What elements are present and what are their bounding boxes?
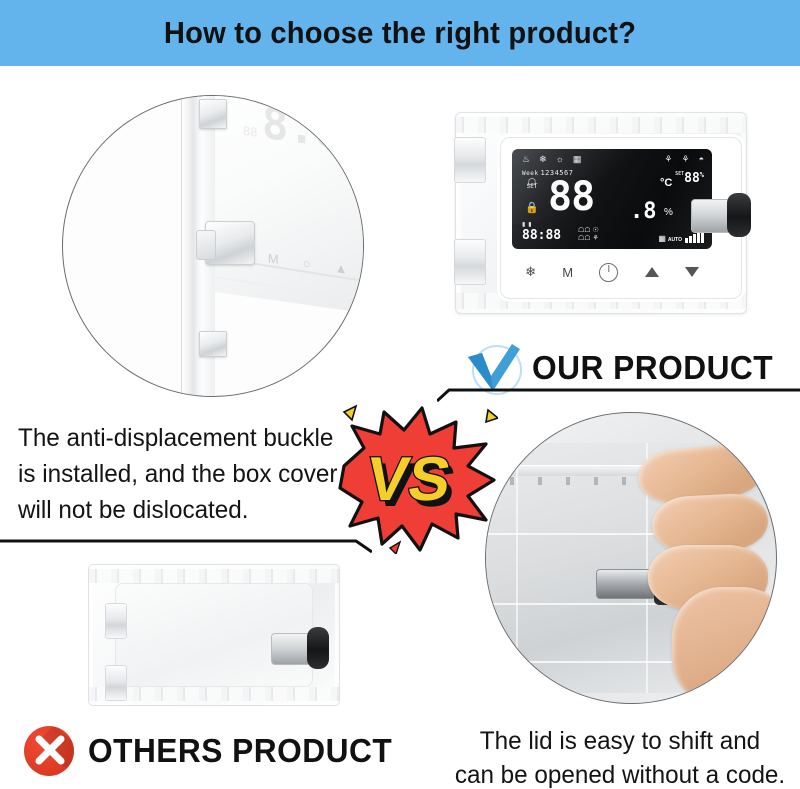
left-caption-line-2: is installed, and the box cover: [18, 456, 338, 492]
lcd-percent-unit: %: [664, 207, 673, 218]
lcd-humidity: SET88%: [675, 171, 704, 186]
clear-lock-box: ♨ ❄ ☼ ▦ ⚘ ⚘ ◓ Week1234567 ☖ SET 🔒 88 .8 …: [455, 112, 747, 314]
fan-icon: ♨: [522, 155, 530, 164]
lcd-icon-row: ♨ ❄ ☼ ▦ ⚘ ⚘ ◓: [522, 155, 704, 164]
others-ribs-top: [89, 569, 339, 583]
ghost-power-icon: ○: [303, 255, 311, 271]
others-lock-knob: [307, 627, 329, 669]
fan-button[interactable]: ❄: [525, 264, 536, 280]
vs-badge: VS VS: [338, 404, 498, 554]
snowflake-icon: ❄: [539, 155, 547, 164]
others-clear-cover: [88, 564, 340, 706]
buckle-closeup-content: 88 8.8 ❄ M ○ ▲: [63, 96, 363, 396]
ghost-lcd-small: 88: [243, 124, 257, 140]
lcd-week-label: Week: [522, 170, 538, 177]
fan-small-icon: ▦: [658, 234, 666, 243]
sun-icon: ☼: [556, 155, 564, 164]
ghost-lcd-digits: 8.8: [262, 97, 341, 159]
hinge-bottom: [454, 239, 486, 285]
valve-icon: ⚘: [664, 155, 672, 164]
right-caption-line-2: can be opened without a code.: [449, 758, 790, 789]
mode-button[interactable]: M: [562, 265, 573, 280]
others-lock-barrel: [271, 633, 311, 665]
lid-vert-1: [516, 443, 518, 693]
left-caption-line-3: will not be dislocated.: [18, 492, 338, 528]
vs-text: VS: [363, 445, 455, 514]
lcd-clock: 88:88: [522, 228, 561, 243]
hand-lifting-lid-photo: [485, 412, 777, 704]
our-product-photo: ♨ ❄ ☼ ▦ ⚘ ⚘ ◓ Week1234567 ☖ SET 🔒 88 .8 …: [437, 108, 767, 318]
lock-knob: [727, 193, 751, 237]
header-banner: How to choose the right product?: [0, 0, 800, 66]
our-product-label: OUR PRODUCT: [532, 349, 773, 387]
lock-icon: 🔒: [524, 201, 540, 214]
right-caption-line-1: The lid is easy to shift and: [449, 724, 790, 758]
buckle-bottom: [199, 331, 227, 357]
valve-icon: ⚘: [681, 155, 689, 164]
others-lock: [271, 627, 329, 669]
others-product-label: OTHERS PRODUCT: [88, 732, 392, 770]
lcd-auto-label: AUTO: [668, 237, 682, 243]
case-ribs-top: [456, 117, 746, 133]
lcd-temperature-unit: °C: [660, 177, 672, 189]
ghost-mode-icon: M: [268, 250, 279, 267]
palm-thumb: [672, 587, 777, 704]
lcd-humidity-tag: SET: [675, 171, 684, 177]
blue-check-icon: [466, 343, 522, 393]
left-caption: The anti-displacement buckle is installe…: [18, 420, 338, 528]
others-hinge-top: [105, 603, 127, 639]
check-icon-wrap: [466, 343, 522, 393]
our-product-label-group: OUR PRODUCT: [466, 343, 783, 393]
box-lock: [691, 193, 751, 237]
page-title: How to choose the right product?: [24, 0, 776, 66]
lcd-humidity-unit: %: [700, 171, 704, 179]
buckle-closeup-photo: 88 8.8 ❄ M ○ ▲: [62, 95, 364, 397]
thermostat-lcd: ♨ ❄ ☼ ▦ ⚘ ⚘ ◓ Week1234567 ☖ SET 🔒 88 .8 …: [512, 149, 712, 249]
x-icon-circle: [24, 726, 74, 776]
ghost-lcd: 88 8.8: [243, 95, 364, 227]
promo-infographic: How to choose the right product? 88 8.8 …: [0, 0, 800, 789]
left-caption-line-1: The anti-displacement buckle: [18, 420, 338, 456]
up-button[interactable]: [645, 267, 659, 277]
hinge-top: [454, 137, 486, 183]
lcd-temperature-fraction: .8: [630, 199, 657, 224]
lcd-mini-icons: ☖☖ ☉☖☖ ⚘: [578, 227, 626, 243]
ghost-up-icon: ▲: [335, 259, 348, 276]
power-button[interactable]: [599, 263, 618, 282]
lcd-battery-icons: ▮▮: [522, 221, 535, 228]
thermostat-button-row: ❄ M: [512, 255, 712, 289]
right-caption: The lid is easy to shift and can be open…: [449, 724, 790, 789]
lcd-set-label: SET: [524, 183, 540, 190]
wifi-icon: ◓: [699, 155, 704, 164]
lcd-humidity-value: 88: [684, 171, 700, 186]
hand: [612, 437, 777, 687]
display-icon: ▦: [573, 155, 582, 164]
down-button[interactable]: [685, 267, 699, 277]
buckle-middle: [205, 221, 255, 265]
lcd-temperature: 88: [548, 177, 594, 217]
others-product-photo: [60, 556, 380, 716]
others-product-label-group: OTHERS PRODUCT: [24, 726, 405, 776]
red-x-icon: [24, 726, 74, 776]
others-hinge-bottom: [105, 665, 127, 701]
buckle-top: [199, 99, 227, 129]
